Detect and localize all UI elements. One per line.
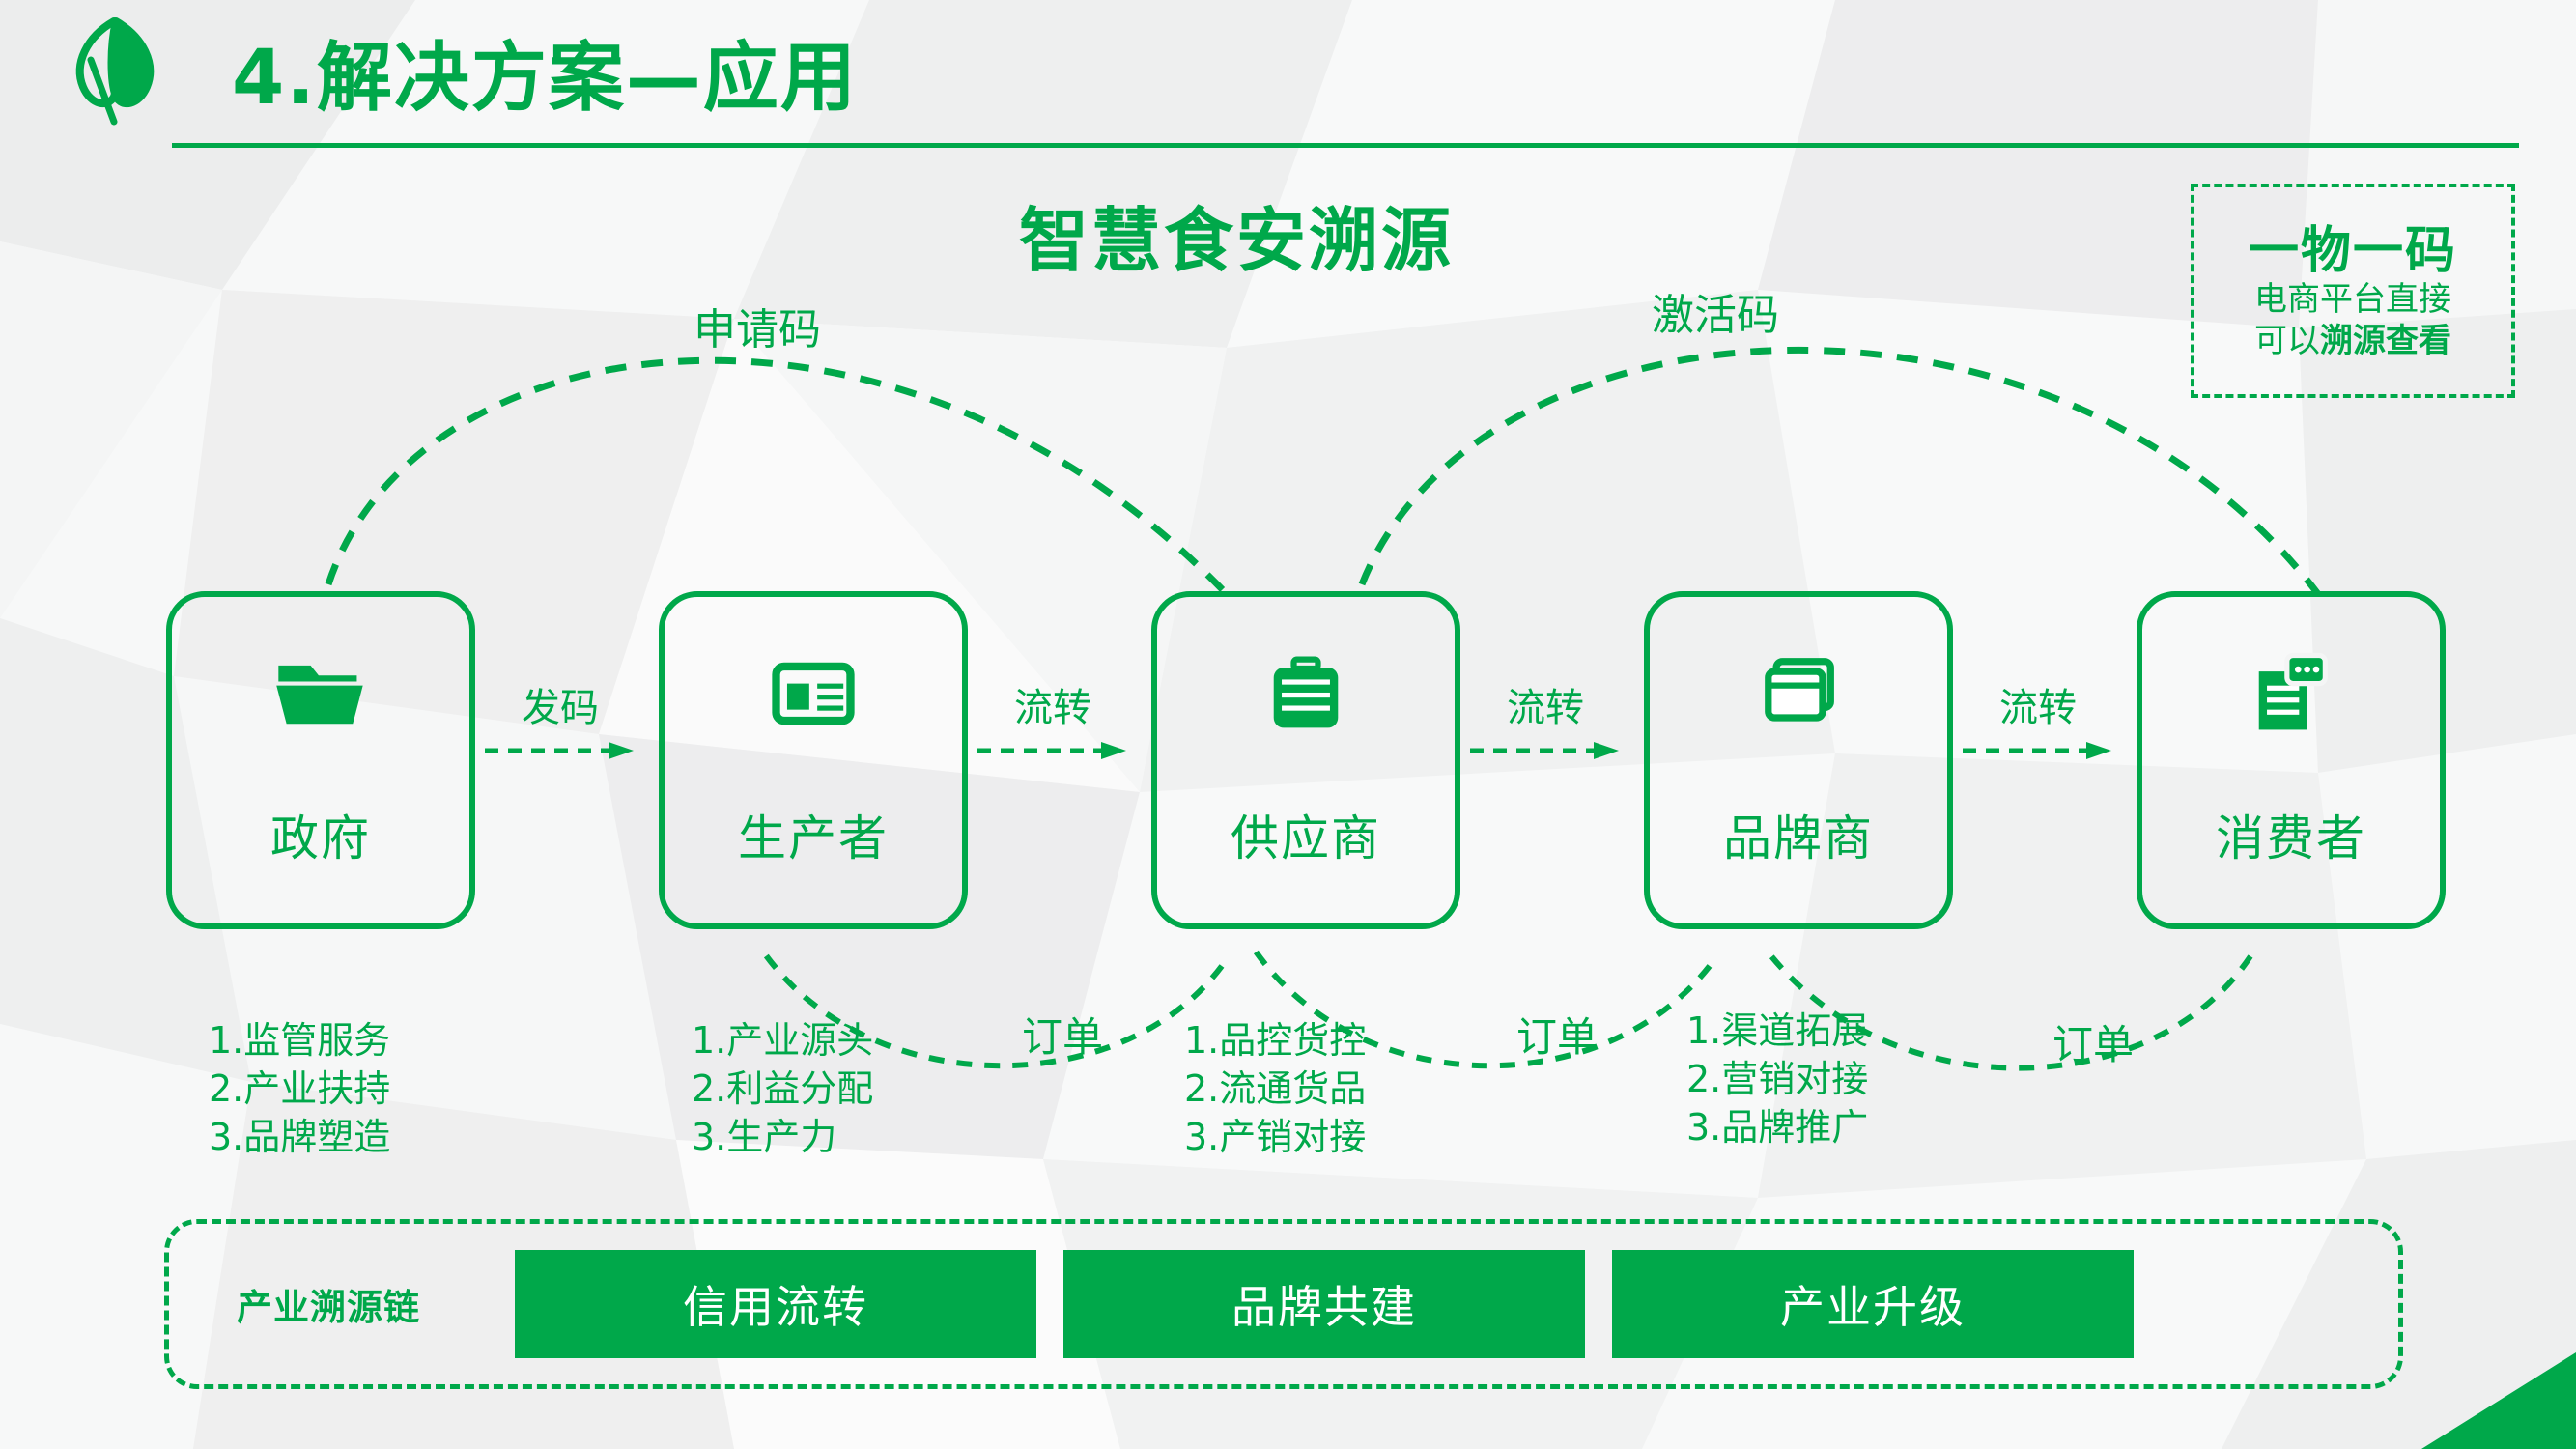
bullet-item: 1.渠道拓展 bbox=[1686, 1007, 1868, 1055]
order-label-3: 订单 bbox=[2052, 1012, 2134, 1071]
chain-label: 产业溯源链 bbox=[169, 1278, 488, 1330]
bullet-group-producer: 1.产业源头 2.利益分配 3.生产力 bbox=[692, 1016, 873, 1161]
node-label: 生产者 bbox=[738, 800, 889, 869]
dashed-arrow-right-icon bbox=[1961, 738, 2115, 763]
node-government[interactable]: 政府 bbox=[166, 591, 475, 929]
bullet-item: 3.品牌塑造 bbox=[209, 1113, 390, 1161]
bullet-item: 2.利益分配 bbox=[692, 1065, 873, 1113]
header-divider bbox=[172, 143, 2519, 148]
bullet-item: 1.产业源头 bbox=[692, 1016, 873, 1065]
node-label: 消费者 bbox=[2216, 800, 2366, 869]
bullet-item: 1.品控货控 bbox=[1184, 1016, 1366, 1065]
arc-label-apply-code: 申请码 bbox=[694, 295, 821, 356]
dashed-arrow-right-icon bbox=[1468, 738, 1623, 763]
bullet-group-government: 1.监管服务 2.产业扶持 3.品牌塑造 bbox=[209, 1016, 390, 1161]
dashed-arrow-right-icon bbox=[483, 738, 637, 763]
step-label: 流转 bbox=[1458, 676, 1632, 732]
node-label: 品牌商 bbox=[1723, 800, 1874, 869]
order-label-2: 订单 bbox=[1516, 1005, 1598, 1064]
bullet-item: 1.监管服务 bbox=[209, 1016, 390, 1065]
step-label: 流转 bbox=[1951, 676, 2125, 732]
diagram-title: 智慧食安溯源 bbox=[1019, 184, 1454, 285]
callout-heading: 一物一码 bbox=[2249, 224, 2457, 279]
node-producer[interactable]: 生产者 bbox=[659, 591, 968, 929]
briefcase-icon bbox=[1256, 643, 1356, 744]
step-arrow-flow-3: 流转 bbox=[1951, 676, 2125, 763]
page-title: 4.解决方案—应用 bbox=[232, 17, 858, 126]
bullet-group-supplier: 1.品控货控 2.流通货品 3.产销对接 bbox=[1184, 1016, 1366, 1161]
document-comment-icon bbox=[2241, 643, 2341, 744]
bullet-item: 3.品牌推广 bbox=[1686, 1103, 1868, 1151]
bullet-item: 3.产销对接 bbox=[1184, 1113, 1366, 1161]
node-brand[interactable]: 品牌商 bbox=[1644, 591, 1953, 929]
order-label-1: 订单 bbox=[1022, 1005, 1103, 1064]
arc-apply-code bbox=[328, 360, 1227, 594]
bullet-item: 2.产业扶持 bbox=[209, 1065, 390, 1113]
arc-activate-code bbox=[1362, 350, 2318, 594]
chip-credit-flow[interactable]: 信用流转 bbox=[515, 1250, 1036, 1358]
node-supplier[interactable]: 供应商 bbox=[1151, 591, 1460, 929]
header: 4.解决方案—应用 bbox=[0, 0, 2576, 155]
bullet-item: 2.营销对接 bbox=[1686, 1055, 1868, 1103]
folder-icon bbox=[270, 643, 371, 744]
node-label: 供应商 bbox=[1231, 800, 1381, 869]
chip-brand-cobuild[interactable]: 品牌共建 bbox=[1063, 1250, 1585, 1358]
step-arrow-flow-1: 流转 bbox=[966, 676, 1140, 763]
industry-chain-bar: 产业溯源链 信用流转 品牌共建 产业升级 bbox=[164, 1219, 2403, 1389]
arc-label-activate-code: 激活码 bbox=[1652, 280, 1779, 342]
stacked-cards-icon bbox=[1748, 643, 1849, 744]
step-arrow-flow-2: 流转 bbox=[1458, 676, 1632, 763]
callout-line-1: 电商平台直接 bbox=[2254, 279, 2451, 320]
id-card-icon bbox=[763, 643, 863, 744]
chip-industry-upgrade[interactable]: 产业升级 bbox=[1612, 1250, 2134, 1358]
node-label: 政府 bbox=[270, 800, 371, 869]
callout-line-2-prefix: 可以 bbox=[2254, 322, 2320, 360]
step-label: 发码 bbox=[473, 676, 647, 732]
leaf-icon bbox=[58, 14, 174, 129]
callout-line-2: 可以溯源查看 bbox=[2254, 321, 2451, 361]
step-arrow-issue-code: 发码 bbox=[473, 676, 647, 763]
one-item-one-code-callout: 一物一码 电商平台直接 可以溯源查看 bbox=[2191, 184, 2515, 398]
bullet-item: 3.生产力 bbox=[692, 1113, 873, 1161]
bullet-item: 2.流通货品 bbox=[1184, 1065, 1366, 1113]
bullet-group-brand: 1.渠道拓展 2.营销对接 3.品牌推广 bbox=[1686, 1007, 1868, 1151]
dashed-arrow-right-icon bbox=[976, 738, 1130, 763]
callout-line-2-bold: 溯源查看 bbox=[2320, 322, 2451, 360]
step-label: 流转 bbox=[966, 676, 1140, 732]
node-consumer[interactable]: 消费者 bbox=[2137, 591, 2446, 929]
